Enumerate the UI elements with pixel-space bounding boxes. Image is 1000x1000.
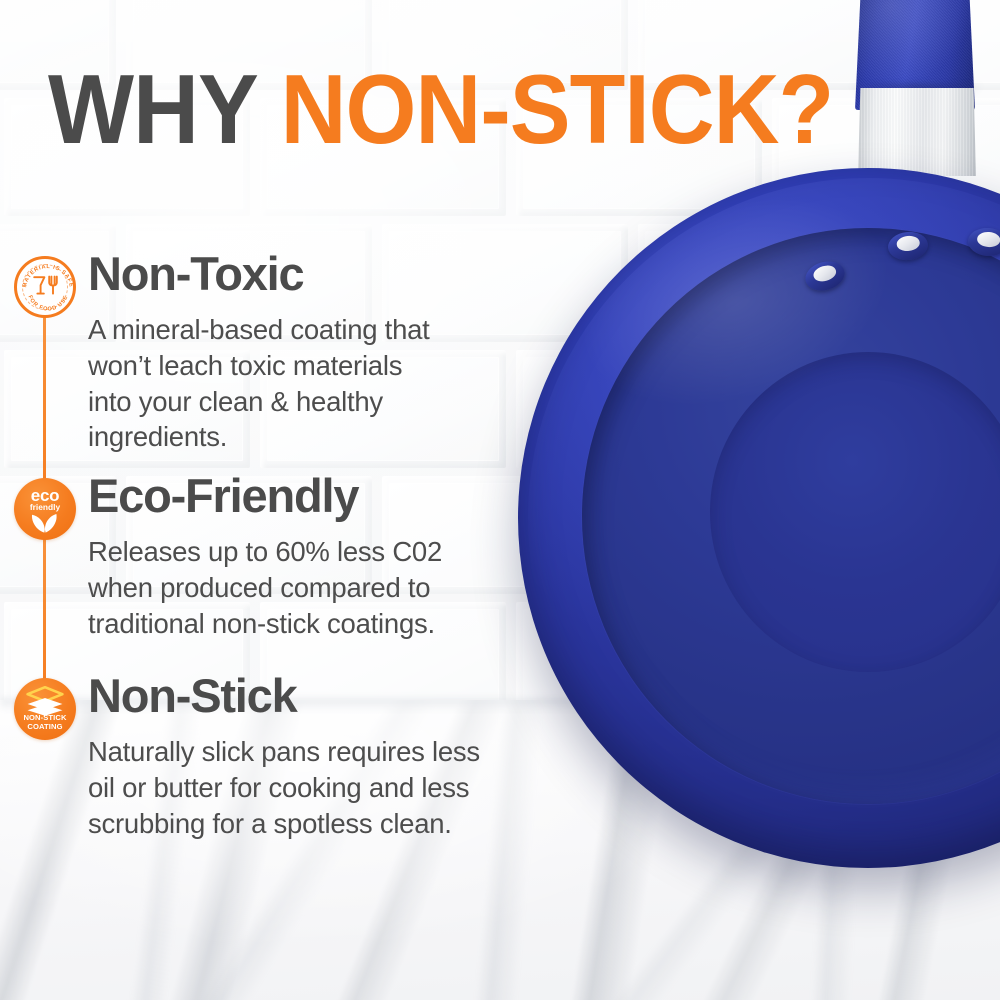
feature-body-line: traditional non-stick coatings.	[88, 606, 538, 642]
feature-title: Non-Toxic	[88, 250, 303, 297]
feature-title: Eco-Friendly	[88, 472, 358, 519]
eco-friendly-icon: eco friendly	[14, 478, 76, 540]
feature-body: A mineral-based coating that won’t leach…	[88, 312, 538, 455]
stainless-steel-ferrule	[858, 88, 976, 176]
feature-connector-line	[43, 520, 46, 698]
feature-title: Non-Stick	[88, 672, 297, 719]
feature-body-line: Naturally slick pans requires less	[88, 734, 538, 770]
material-safe-for-food-use-icon: MATERIAL IS SAFE FOR FOOD USE	[14, 256, 76, 318]
layered-coating-icon	[25, 686, 65, 716]
pan-body	[518, 168, 1000, 868]
feature-body-line: scrubbing for a spotless clean.	[88, 806, 538, 842]
feature-connector-line	[43, 300, 46, 500]
feature-body-line: when produced compared to	[88, 570, 538, 606]
feature-body: Naturally slick pans requires less oil o…	[88, 734, 538, 841]
feature-body-line: Releases up to 60% less C02	[88, 534, 538, 570]
infographic-canvas: WHY NON-STICK? MATERIAL IS SAFE FOR FOOD	[0, 0, 1000, 1000]
feature-body-line: ingredients.	[88, 419, 538, 455]
feature-body-line: A mineral-based coating that	[88, 312, 538, 348]
non-stick-coating-icon: NON-STICK COATING	[14, 678, 76, 740]
feature-body: Releases up to 60% less C02 when produce…	[88, 534, 538, 641]
leaves-icon	[28, 511, 62, 533]
feature-body-line: won’t leach toxic materials	[88, 348, 538, 384]
non-stick-badge-line-1: NON-STICK	[14, 714, 76, 722]
feature-body-line: into your clean & healthy	[88, 384, 538, 420]
feature-list: MATERIAL IS SAFE FOR FOOD USE	[0, 0, 560, 1000]
feature-body-line: oil or butter for cooking and less	[88, 770, 538, 806]
glass-and-fork-icon	[31, 274, 59, 300]
non-stick-badge-line-2: COATING	[14, 723, 76, 731]
